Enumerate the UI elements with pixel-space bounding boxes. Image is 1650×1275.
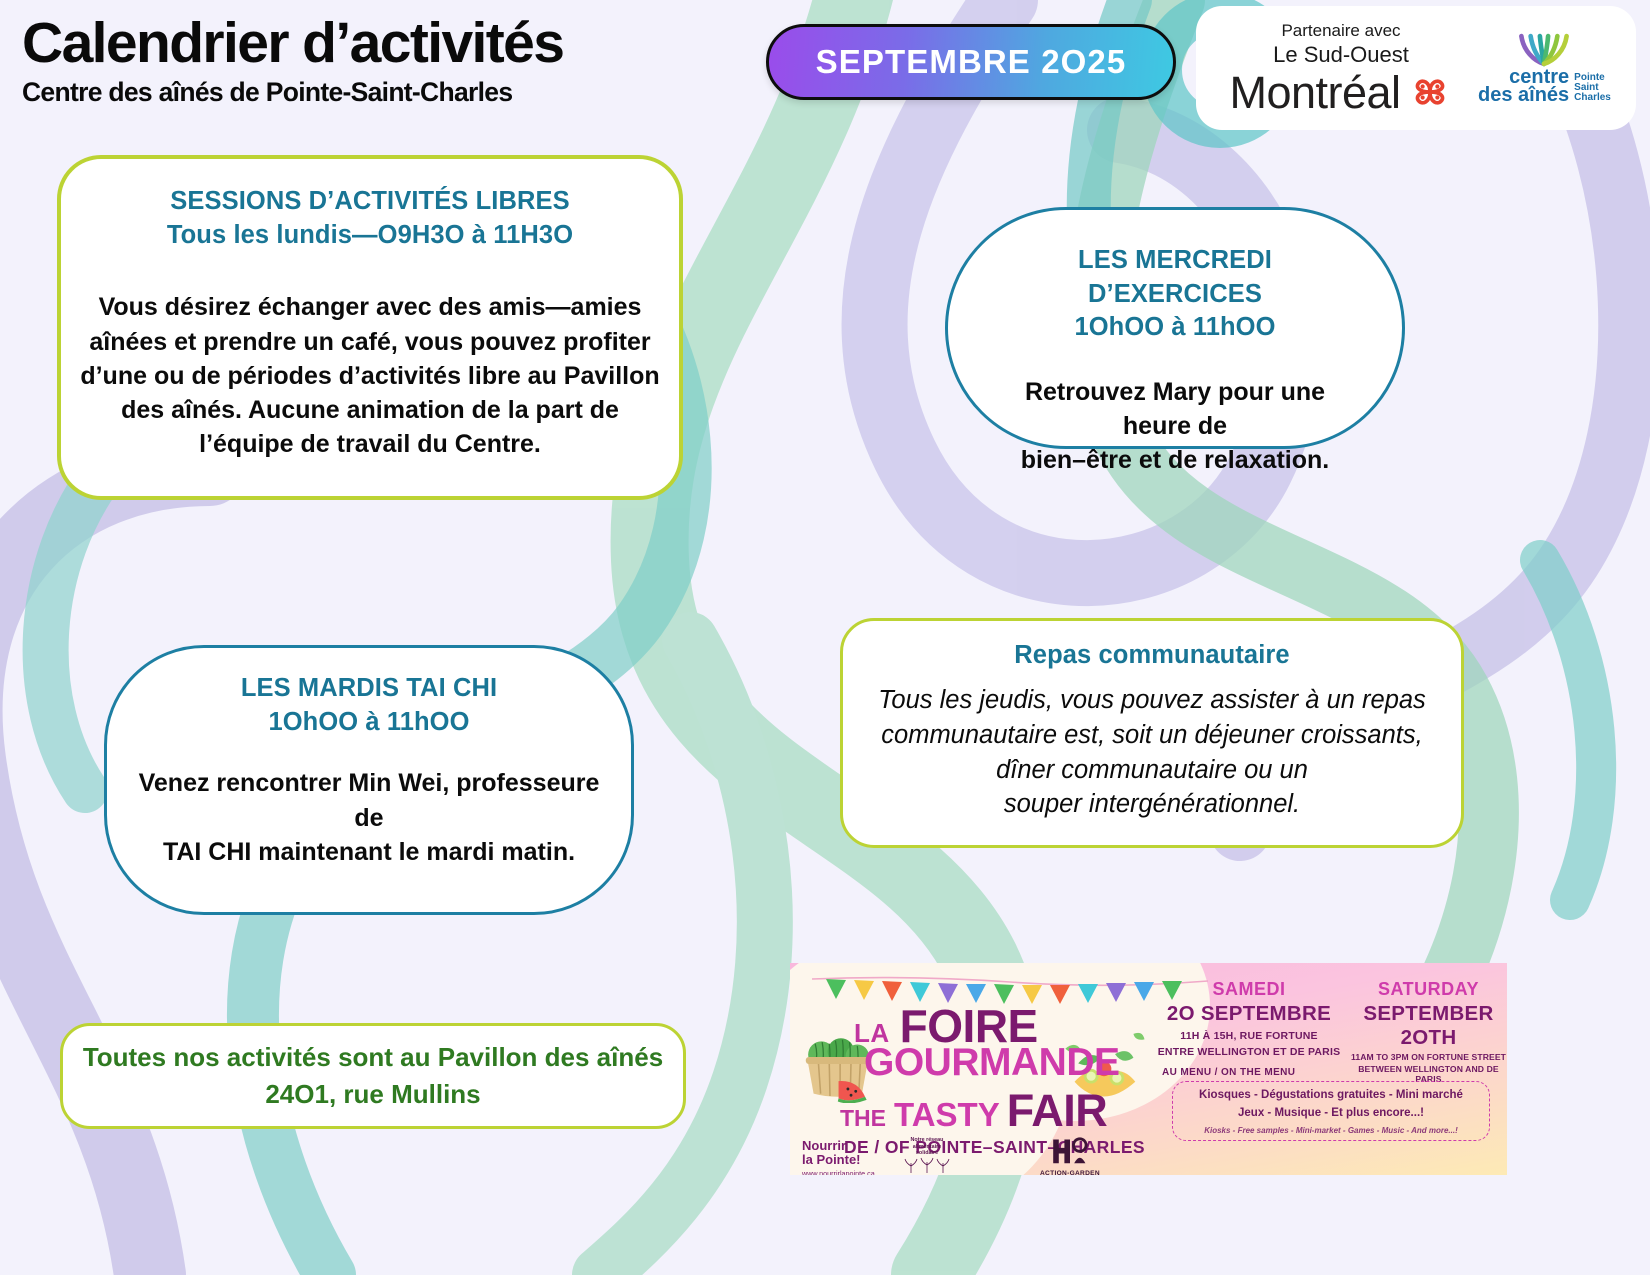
lieu-line1: Toutes nos activités sont au Pavillon de… (83, 1039, 663, 1076)
nourrir-la-pointe-logo: Nourrir la Pointe! www.nourrirlapointe.c… (802, 1139, 875, 1175)
poster-menu-fr-2: Jeux - Musique - Et plus encore...! (1238, 1105, 1424, 1123)
card-body-line1: Vous désirez échanger avec des amis—amie… (77, 290, 663, 324)
card-heading: SESSIONS D’ACTIVITÉS LIBRES Tous les lun… (77, 185, 663, 252)
card-heading-line2: 1OhOO à 11hOO (133, 706, 605, 740)
card-repas-communautaire: Repas communautaire Tous les jeudis, vou… (840, 618, 1464, 848)
month-badge-label: SEPTEMBRE 2O25 (816, 43, 1127, 81)
card-body: Venez rencontrer Min Wei, professeure de… (133, 766, 605, 869)
card-heading-line1: Repas communautaire (869, 639, 1435, 673)
card-body-line2: TAI CHI maintenant le mardi matin. (133, 835, 605, 869)
card-lieu-pavillon: Toutes nos activités sont au Pavillon de… (60, 1023, 686, 1129)
card-heading-line1: LES MARDIS TAI CHI (133, 672, 605, 706)
card-body-line4: des aînés. Aucune animation de la part d… (77, 393, 663, 427)
nourrir-line2: la Pointe! (802, 1153, 875, 1167)
page-title: Calendrier d’activités (22, 14, 563, 72)
poster-fr-time: 11H À 15H, RUE FORTUNE (1154, 1030, 1344, 1042)
poster-french-column: SAMEDI 2O SEPTEMBRE 11H À 15H, RUE FORTU… (1154, 979, 1344, 1058)
card-heading: LES MARDIS TAI CHI 1OhOO à 11hOO (133, 672, 605, 739)
month-badge[interactable]: SEPTEMBRE 2O25 (766, 24, 1176, 100)
lieu-line2: 24O1, rue Mullins (265, 1076, 480, 1113)
card-body-line3: d’une ou de périodes d’activités libre a… (77, 359, 663, 393)
poster-en-time: 11AM TO 3PM ON FORTUNE STREET (1350, 1052, 1507, 1062)
card-heading: LES MERCREDI D’EXERCICES 1OhOO à 11hOO (990, 244, 1360, 345)
card-body-line2: aînées et prendre un café, vous pouvez p… (77, 325, 663, 359)
poster-menu-fr-1: Kiosques - Dégustations gratuites - Mini… (1199, 1087, 1463, 1105)
card-body-line1: Tous les jeudis, vous pouvez assister à … (869, 683, 1435, 718)
card-sessions-activites-libres: SESSIONS D’ACTIVITÉS LIBRES Tous les lun… (57, 155, 683, 500)
action-garden-line1: ACTION-GARDEN (1040, 1170, 1100, 1175)
reseau-line2: alimentaire (894, 1144, 960, 1151)
poster-fr-day: SAMEDI (1154, 979, 1344, 1000)
card-mercredi-exercices: LES MERCREDI D’EXERCICES 1OhOO à 11hOO R… (945, 207, 1405, 449)
card-body: Retrouvez Mary pour une heure de bien–êt… (990, 375, 1360, 478)
poster-menu-box: Kiosques - Dégustations gratuites - Mini… (1172, 1081, 1490, 1141)
plants-icon (901, 1157, 953, 1173)
card-body: Vous désirez échanger avec des amis—amie… (77, 290, 663, 461)
centre-label-line2: des aînés (1478, 86, 1569, 104)
poster-the: THE (840, 1105, 886, 1132)
page-header: Calendrier d’activités Centre des aînés … (22, 14, 563, 108)
poster-fair: FAIR (1007, 1085, 1108, 1137)
card-body-line5: l’équipe de travail du Centre. (77, 427, 663, 461)
poster-details-block: SAMEDI 2O SEPTEMBRE 11H À 15H, RUE FORTU… (1154, 963, 1507, 1175)
reseau-line3: solidaire (894, 1150, 960, 1157)
poster-fr-date: 2O SEPTEMBRE (1154, 1002, 1344, 1026)
poster-en-day: SATURDAY (1350, 979, 1507, 1000)
montreal-floral-icon (1407, 69, 1453, 115)
poster-menu-en: Kiosks - Free samples - Mini-market - Ga… (1204, 1126, 1458, 1135)
poster-fr-between: ENTRE WELLINGTON ET DE PARIS (1154, 1046, 1344, 1058)
poster-en-date: SEPTEMBER 2OTH (1350, 1002, 1507, 1050)
nourrir-url: www.nourrirlapointe.ca (802, 1169, 875, 1175)
partner-label-line1: Partenaire avec (1281, 21, 1400, 41)
card-mardis-tai-chi: LES MARDIS TAI CHI 1OhOO à 11hOO Venez r… (104, 645, 634, 915)
card-body: Tous les jeudis, vous pouvez assister à … (869, 683, 1435, 823)
logo-card: Partenaire avec Le Sud-Ouest Montréal (1196, 6, 1636, 130)
poster-menu-label: AU MENU / ON THE MENU (1162, 1067, 1295, 1078)
poster-gourmande: GOURMANDE (864, 1041, 1120, 1085)
card-body-line2: bien–être et de relaxation. (990, 443, 1360, 477)
centre-vee-icon (1513, 32, 1575, 68)
card-body-line1: Venez rencontrer Min Wei, professeure de (133, 766, 605, 835)
card-body-line3: dîner communautaire ou un (869, 753, 1435, 788)
card-body-line1: Retrouvez Mary pour une heure de (990, 375, 1360, 444)
card-heading-line1: LES MERCREDI D’EXERCICES (990, 244, 1360, 311)
action-garden-logo: ACTION-GARDEN CDC de Pointe-Saint-Charle… (1040, 1135, 1100, 1175)
poster-english-column: SATURDAY SEPTEMBER 2OTH 11AM TO 3PM ON F… (1350, 979, 1507, 1084)
card-body-line4: souper intergénérationnel. (869, 787, 1435, 822)
montreal-wordmark: Montréal (1229, 70, 1400, 115)
poster-tasty: TASTY (894, 1096, 1000, 1134)
card-body-line2: communautaire est, soit un déjeuner croi… (869, 718, 1435, 753)
card-heading: Repas communautaire (869, 639, 1435, 673)
partner-label-line2: Le Sud-Ouest (1273, 42, 1409, 68)
nourrir-line1: Nourrir (802, 1139, 875, 1153)
reseau-line1: Notre réseau (894, 1137, 960, 1144)
card-heading-line1: SESSIONS D’ACTIVITÉS LIBRES (77, 185, 663, 219)
card-heading-line2: Tous les lundis—O9H3O à 11H3O (77, 219, 663, 253)
psc-line3: Charles (1574, 93, 1611, 103)
card-heading-line2: 1OhOO à 11hOO (990, 311, 1360, 345)
page-subtitle: Centre des aînés de Pointe-Saint-Charles (22, 77, 563, 108)
centre-des-aines-logo: centre des aînés Pointe Saint Charles (1478, 32, 1611, 105)
montreal-logo: Partenaire avec Le Sud-Ouest Montréal (1216, 21, 1466, 115)
foire-gourmande-poster[interactable]: LA FOIRE GOURMANDE THE TASTY FAIR DE / O… (790, 963, 1507, 1175)
action-garden-mark-icon (1049, 1135, 1091, 1165)
reseau-alimentaire-logo: Notre réseau alimentaire solidaire (894, 1137, 960, 1175)
